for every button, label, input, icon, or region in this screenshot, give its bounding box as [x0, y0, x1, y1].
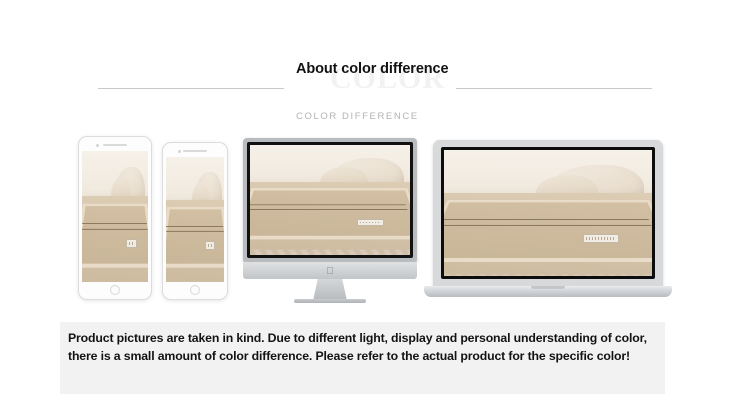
product-watermark-tag	[126, 239, 137, 248]
disclaimer-text: Product pictures are taken in kind. Due …	[68, 330, 668, 366]
apple-logo-icon: 	[326, 267, 334, 276]
imac-screen	[250, 145, 410, 255]
earpiece-speaker	[103, 144, 127, 146]
earpiece-speaker	[183, 150, 207, 152]
imac-bezel	[243, 138, 417, 262]
imac-stand-neck	[313, 279, 347, 301]
header-section: COLOR About color difference COLOR DIFFE…	[0, 26, 750, 106]
device-phone-small	[162, 142, 228, 300]
product-watermark-tag	[357, 219, 384, 227]
device-macbook	[424, 140, 672, 305]
page-subtitle: COLOR DIFFERENCE	[296, 111, 516, 122]
phone-small-screen	[166, 157, 224, 282]
device-phone-large	[78, 136, 152, 300]
color-difference-banner: COLOR About color difference COLOR DIFFE…	[0, 0, 750, 413]
macbook-lid	[433, 140, 663, 288]
macbook-glass	[441, 147, 655, 279]
divider-line-right	[456, 88, 652, 89]
imac-stand-foot	[294, 299, 366, 303]
page-title: About color difference	[296, 60, 456, 79]
rug-photo	[166, 157, 224, 282]
macbook-screen	[444, 150, 652, 276]
home-button[interactable]	[110, 285, 120, 295]
rug-photo	[82, 151, 148, 282]
product-watermark-tag	[205, 241, 215, 250]
front-camera-icon	[178, 150, 181, 153]
divider-line-left	[98, 88, 284, 89]
rug-photo	[250, 145, 410, 255]
phone-large-screen	[82, 151, 148, 282]
front-camera-icon	[96, 144, 99, 147]
rug-photo	[444, 150, 652, 276]
imac-glass	[247, 142, 413, 258]
device-imac: 	[243, 138, 417, 306]
macbook-latch-notch	[531, 286, 565, 289]
device-showcase: 	[0, 126, 750, 311]
product-watermark-tag	[583, 234, 618, 243]
home-button[interactable]	[190, 285, 200, 295]
